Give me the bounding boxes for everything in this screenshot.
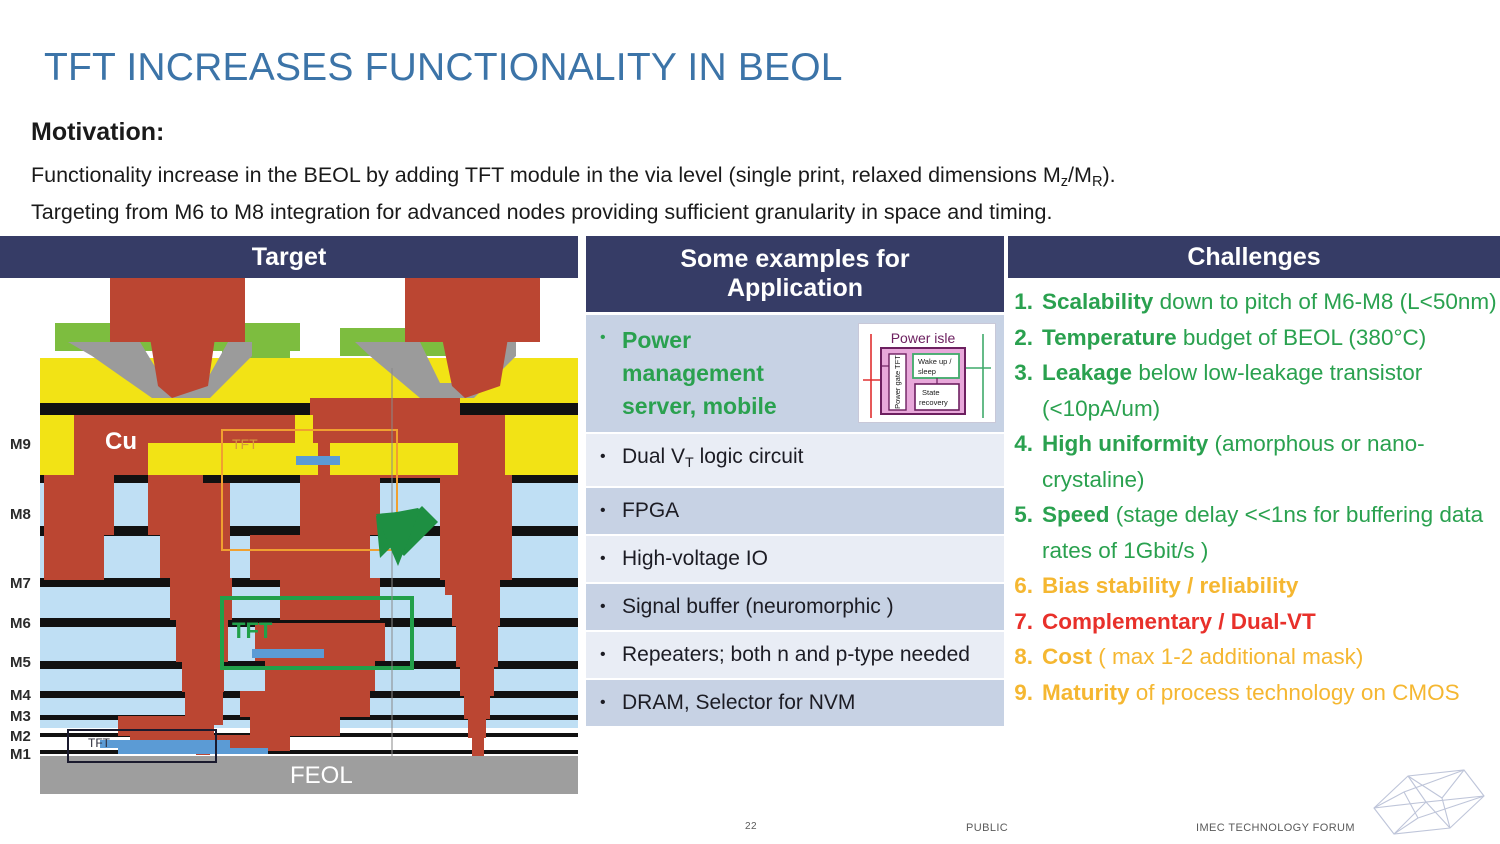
list-item-high-voltage-io[interactable]: • High-voltage IO	[586, 536, 1004, 584]
challenge-keyword: Maturity	[1042, 680, 1130, 705]
list-item-label: DRAM, Selector for NVM	[622, 689, 994, 717]
examples-header-line1: Some examples for	[680, 245, 909, 273]
list-item-label: Repeaters; both n and p-type needed	[622, 641, 994, 669]
challenge-item-temperature: 2. Temperature budget of BEOL (380°C)	[1008, 320, 1500, 356]
bullet-icon: •	[600, 443, 622, 471]
challenge-number: 6.	[1008, 568, 1042, 604]
bullet-icon: •	[600, 545, 622, 573]
challenge-keyword: Temperature	[1042, 325, 1177, 350]
footer-page-number: 22	[745, 821, 757, 832]
challenge-number: 7.	[1008, 604, 1042, 640]
challenge-number: 9.	[1008, 675, 1042, 711]
tft-box-green-label: TFT	[232, 618, 272, 644]
challenge-detail: budget of BEOL (380°C)	[1177, 325, 1427, 350]
challenge-item-scalability: 1. Scalability down to pitch of M6-M8 (L…	[1008, 284, 1500, 320]
column-header-challenges-label: Challenges	[1187, 243, 1320, 272]
list-item-repeaters[interactable]: • Repeaters; both n and p-type needed	[586, 632, 1004, 680]
challenge-number: 1.	[1008, 284, 1042, 320]
list-item-power-management[interactable]: • Power management server, mobile	[586, 315, 1004, 434]
column-header-challenges: Challenges	[1008, 236, 1500, 278]
motivation-line-1-b: /M	[1068, 163, 1092, 187]
challenge-number: 4.	[1008, 426, 1042, 462]
list-item-dual-vt[interactable]: • Dual VT logic circuit	[586, 434, 1004, 488]
challenge-item-speed: 5. Speed (stage delay <<1ns for bufferin…	[1008, 497, 1500, 568]
column-header-examples-label: Some examples for Application	[680, 245, 909, 303]
metal-label-m8: M8	[10, 506, 31, 523]
challenge-keyword: Scalability	[1042, 289, 1153, 314]
motivation-body: Functionality increase in the BEOL by ad…	[31, 160, 1361, 227]
list-item-dram-selector[interactable]: • DRAM, Selector for NVM	[586, 680, 1004, 728]
challenge-detail: ( max 1-2 additional mask)	[1092, 644, 1363, 669]
column-header-target-label: Target	[252, 243, 327, 272]
challenge-text: Temperature budget of BEOL (380°C)	[1042, 320, 1500, 356]
metal-label-m1: M1	[10, 746, 31, 763]
motivation-line-1: Functionality increase in the BEOL by ad…	[31, 160, 1361, 197]
challenge-keyword: Complementary / Dual-VT	[1042, 609, 1316, 634]
imec-lattice-logo-icon	[1364, 752, 1492, 844]
power-isle-title: Power isle	[891, 330, 956, 346]
column-header-examples: Some examples for Application	[586, 236, 1004, 312]
challenge-number: 8.	[1008, 639, 1042, 675]
list-item-signal-buffer[interactable]: • Signal buffer (neuromorphic )	[586, 584, 1004, 632]
tft-box-orange-label: TFT	[232, 436, 258, 452]
metal-label-m3: M3	[10, 708, 31, 725]
wake-up-line2: sleep	[918, 367, 936, 376]
list-item-label: Dual VT logic circuit	[622, 443, 994, 477]
examples-header-line2: Application	[727, 274, 863, 302]
footer-classification: PUBLIC	[966, 822, 1008, 834]
bullet-icon: •	[600, 324, 622, 352]
bullet-icon: •	[600, 497, 622, 525]
challenge-item-bias-stability: 6. Bias stability / reliability	[1008, 568, 1500, 604]
challenge-keyword: Leakage	[1042, 360, 1132, 385]
challenge-keyword: High uniformity	[1042, 431, 1208, 456]
challenges-list: 1. Scalability down to pitch of M6-M8 (L…	[1008, 284, 1500, 804]
challenge-item-high-uniformity: 4. High uniformity (amorphous or nano-cr…	[1008, 426, 1500, 497]
beol-cross-section-diagram: M9 M8 M7 M6 M5 M4 M3 M2 M1 Cu FEOL TFT T…	[0, 278, 578, 794]
challenge-number: 5.	[1008, 497, 1042, 533]
metal-label-m6: M6	[10, 615, 31, 632]
challenge-text: Complementary / Dual-VT	[1042, 604, 1500, 640]
motivation-heading: Motivation:	[31, 118, 164, 147]
list-item-label: FPGA	[622, 497, 994, 525]
list-item-label: Power management server, mobile	[622, 324, 832, 423]
list-item-label: High-voltage IO	[622, 545, 994, 573]
feol-label: FEOL	[290, 762, 353, 790]
dual-vt-pre: Dual V	[622, 445, 685, 468]
challenge-text: High uniformity (amorphous or nano-cryst…	[1042, 426, 1500, 497]
challenge-text: Leakage below low-leakage transistor (<1…	[1042, 355, 1500, 426]
metal-label-m4: M4	[10, 687, 31, 704]
list-item-fpga[interactable]: • FPGA	[586, 488, 1004, 536]
challenge-text: Speed (stage delay <<1ns for buffering d…	[1042, 497, 1500, 568]
cross-section-svg	[0, 278, 578, 794]
metal-label-m5: M5	[10, 654, 31, 671]
challenge-keyword: Bias stability / reliability	[1042, 573, 1298, 598]
bullet-icon: •	[600, 689, 622, 717]
challenge-keyword: Speed	[1042, 502, 1110, 527]
motivation-sub-z: z	[1061, 174, 1068, 190]
challenge-item-cost: 8. Cost ( max 1-2 additional mask)	[1008, 639, 1500, 675]
wake-up-line1: Wake up /	[918, 357, 952, 366]
challenge-item-maturity: 9. Maturity of process technology on CMO…	[1008, 675, 1500, 711]
challenge-keyword: Cost	[1042, 644, 1092, 669]
challenge-text: Bias stability / reliability	[1042, 568, 1500, 604]
list-item-label: Signal buffer (neuromorphic )	[622, 593, 994, 621]
challenge-text: Scalability down to pitch of M6-M8 (L<50…	[1042, 284, 1500, 320]
tft-box-dark-label: TFT	[88, 736, 110, 750]
examples-list: • Power management server, mobile	[586, 315, 1004, 795]
dual-vt-post: logic circuit	[694, 445, 804, 468]
motivation-line-1-a: Functionality increase in the BEOL by ad…	[31, 163, 1061, 187]
bullet-icon: •	[600, 641, 622, 669]
metal-label-m7: M7	[10, 575, 31, 592]
metal-label-m2: M2	[10, 728, 31, 745]
power-isle-svg: Power isle Power gate TFT Wake up / slee…	[859, 324, 995, 422]
challenge-text: Maturity of process technology on CMOS	[1042, 675, 1500, 711]
dual-vt-sub: T	[685, 455, 694, 471]
challenge-item-complementary: 7. Complementary / Dual-VT	[1008, 604, 1500, 640]
challenge-number: 3.	[1008, 355, 1042, 391]
challenge-item-leakage: 3. Leakage below low-leakage transistor …	[1008, 355, 1500, 426]
metal-label-m9: M9	[10, 436, 31, 453]
challenge-detail: of process technology on CMOS	[1130, 680, 1460, 705]
challenge-detail: down to pitch of M6-M8 (L<50nm)	[1153, 289, 1496, 314]
motivation-sub-r: R	[1092, 174, 1103, 190]
motivation-line-1-c: ).	[1103, 163, 1116, 187]
cu-label: Cu	[105, 428, 137, 456]
power-isle-inset-diagram: Power isle Power gate TFT Wake up / slee…	[858, 323, 996, 423]
page-title: TFT INCREASES FUNCTIONALITY IN BEOL	[44, 46, 843, 90]
motivation-line-2: Targeting from M6 to M8 integration for …	[31, 197, 1361, 227]
column-header-target: Target	[0, 236, 578, 278]
footer-event-name: IMEC TECHNOLOGY FORUM	[1196, 822, 1355, 834]
slide-root: TFT INCREASES FUNCTIONALITY IN BEOL Moti…	[0, 0, 1500, 844]
state-recovery-line1: State	[922, 388, 940, 397]
challenge-text: Cost ( max 1-2 additional mask)	[1042, 639, 1500, 675]
power-gate-tft-label: Power gate TFT	[893, 355, 902, 409]
state-recovery-line2: recovery	[919, 398, 948, 407]
bullet-icon: •	[600, 593, 622, 621]
challenge-number: 2.	[1008, 320, 1042, 356]
